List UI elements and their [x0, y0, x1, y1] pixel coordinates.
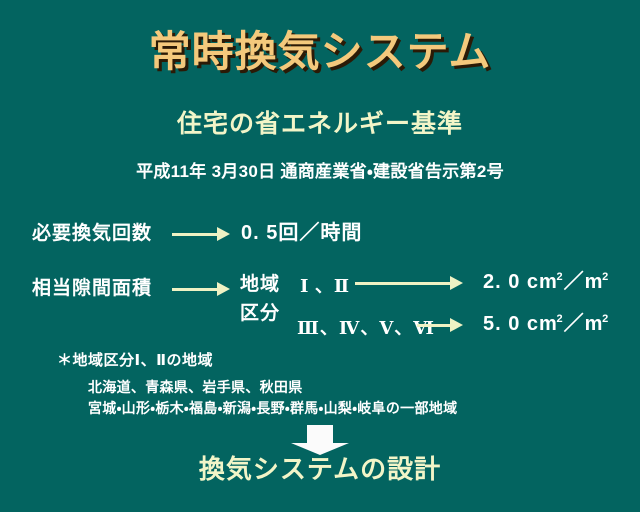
zone-b-romans: Ⅲ、Ⅳ、Ⅴ、Ⅵ: [297, 316, 435, 340]
row-label-equivalent-gap-area: 相当隙間面積: [32, 277, 152, 301]
zone-a-value-sup-denominator: 2: [602, 271, 609, 283]
zone-b-value: 5. 0 cm2／m2: [483, 312, 609, 336]
zone-a-romans: Ⅰ 、Ⅱ: [300, 274, 350, 298]
right-arrow-icon-zone-b: [417, 318, 463, 332]
note-heading: ＊地域区分Ⅰ、Ⅱの地域: [57, 350, 213, 371]
zone-a-value: 2. 0 cm2／m2: [483, 270, 609, 294]
page-subtitle: 住宅の省エネルギー基準: [0, 108, 640, 140]
zone-a-value-divider: ／m: [564, 271, 604, 293]
slide-canvas: 常時換気システム 住宅の省エネルギー基準 平成11年 3月30日 通商産業省・建…: [0, 0, 640, 512]
zone-b-value-sup-numerator: 2: [557, 313, 564, 325]
right-arrow-icon-zone-a: [355, 276, 463, 290]
zone-category-label-line1: 地域: [240, 273, 280, 297]
down-block-arrow-icon: [291, 425, 349, 455]
right-arrow-icon-gap-area: [172, 282, 230, 296]
zone-a-value-number: 2. 0 cm: [483, 271, 558, 293]
row-value-ventilation-rate: 0. 5回／時間: [241, 221, 362, 245]
zone-b-value-number: 5. 0 cm: [483, 313, 558, 335]
note-line-prefectures-primary: 北海道、青森県、岩手県、秋田県: [88, 377, 303, 397]
zone-b-value-sup-denominator: 2: [602, 313, 609, 325]
conclusion-heading: 換気システムの設計: [0, 452, 640, 486]
page-title: 常時換気システム: [0, 26, 640, 78]
zone-b-value-divider: ／m: [564, 313, 604, 335]
note-line-prefectures-partial: 宮城・山形・栃木・福島・新潟・長野・群馬・山梨・岐阜の一部地域: [88, 398, 457, 418]
zone-a-value-sup-numerator: 2: [557, 271, 564, 283]
row-label-ventilation-rate: 必要換気回数: [32, 222, 152, 246]
notice-dateline: 平成11年 3月30日 通商産業省・建設省告示第2号: [0, 160, 640, 184]
right-arrow-icon-ventilation: [172, 227, 230, 241]
zone-category-label-line2: 区分: [240, 302, 280, 326]
